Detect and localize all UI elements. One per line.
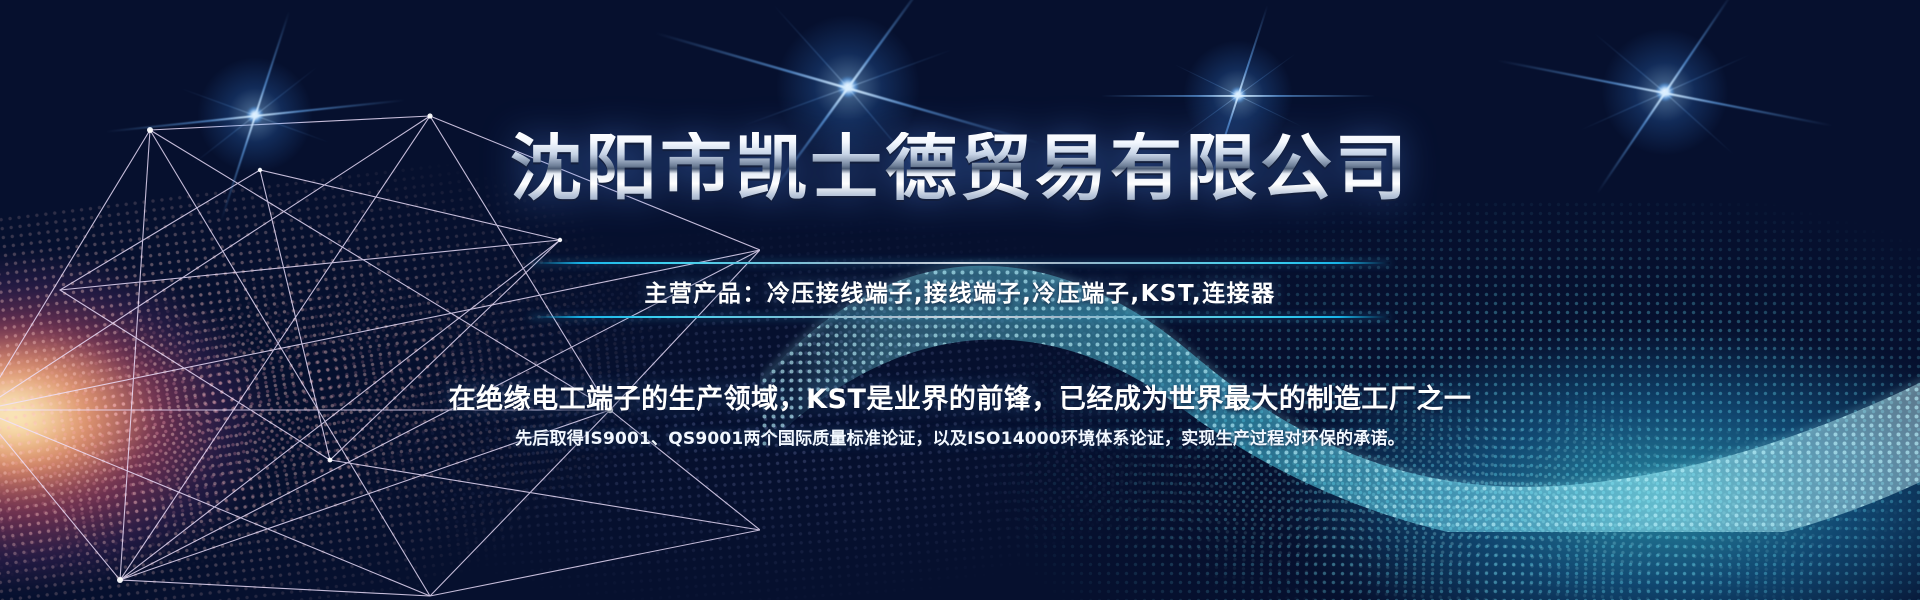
company-hero-banner: 沈阳市凯士德贸易有限公司 沈阳市凯士德贸易有限公司 主营产品：冷压接线端子,接线…	[0, 0, 1920, 600]
divider-bottom	[530, 316, 1390, 318]
certification-note: 先后取得IS9001、QS9001两个国际质量标准论证，以及ISO14000环境…	[0, 424, 1920, 449]
company-title: 沈阳市凯士德贸易有限公司	[0, 132, 1920, 204]
company-tagline: 在绝缘电工端子的生产领域，KST是业界的前锋，已经成为世界最大的制造工厂之一	[0, 377, 1920, 416]
divider-top	[530, 262, 1390, 264]
main-products-subtitle: 主营产品：冷压接线端子,接线端子,冷压端子,KST,连接器	[0, 274, 1920, 308]
